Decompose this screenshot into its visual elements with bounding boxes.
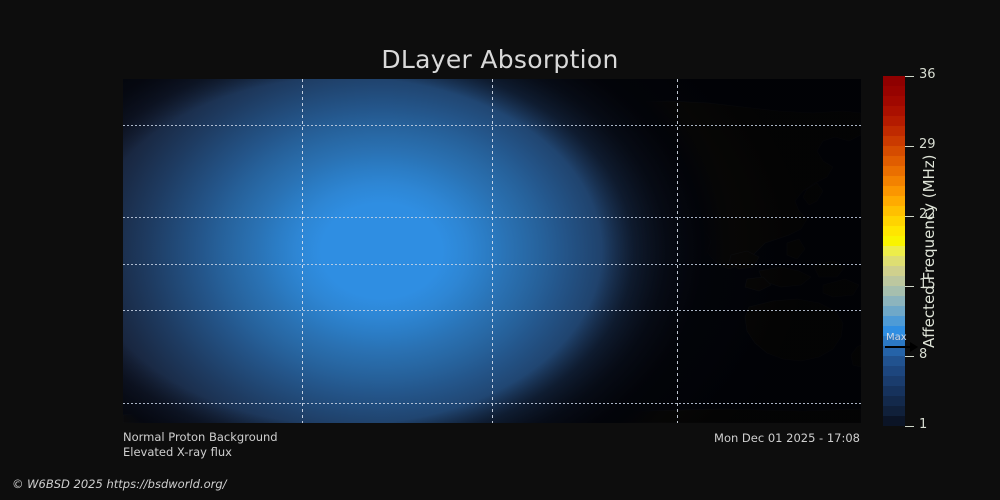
colorbar-band [883, 226, 905, 236]
colorbar-band [883, 316, 905, 326]
colorbar-axis-label: Affected Frequency (MHz) [915, 76, 943, 426]
colorbar-band [883, 286, 905, 296]
colorbar-band [883, 106, 905, 116]
colorbar-band [883, 416, 905, 426]
colorbar-band [883, 266, 905, 276]
timestamp: Mon Dec 01 2025 - 17:08 [714, 431, 860, 445]
colorbar-band [883, 326, 905, 336]
gridline-lon-120w [302, 79, 303, 423]
colorbar-band [883, 396, 905, 406]
colorbar-tick-mark [905, 426, 914, 427]
colorbar-band [883, 76, 905, 86]
proton-background-note: Normal Proton Background [123, 430, 278, 444]
colorbar-band [883, 236, 905, 246]
colorbar-band [883, 116, 905, 126]
colorbar-tick-mark [905, 216, 914, 217]
copyright-notice: © W6BSD 2025 https://bsdworld.org/ [12, 477, 227, 491]
colorbar-band [883, 276, 905, 286]
colorbar-band [883, 296, 905, 306]
colorbar-band [883, 96, 905, 106]
colorbar-tick-mark [905, 76, 914, 77]
colorbar-band [883, 306, 905, 316]
colorbar-band [883, 216, 905, 226]
colorbar-band [883, 166, 905, 176]
gridline-lon-60w [492, 79, 493, 423]
xray-flux-note: Elevated X-ray flux [123, 445, 232, 459]
colorbar-band [883, 146, 905, 156]
colorbar-band [883, 246, 905, 256]
colorbar-band [883, 346, 905, 356]
colorbar-gradient [883, 76, 905, 426]
colorbar-tick-mark [905, 356, 914, 357]
gridline-lon-0 [677, 79, 678, 423]
colorbar-band [883, 126, 905, 136]
colorbar-band [883, 366, 905, 376]
colorbar-band [883, 336, 905, 346]
colorbar-band [883, 156, 905, 166]
colorbar-band [883, 406, 905, 416]
colorbar-band [883, 376, 905, 386]
colorbar-band [883, 206, 905, 216]
colorbar-band [883, 176, 905, 186]
colorbar[interactable] [883, 76, 905, 426]
world-map-panel[interactable] [123, 79, 861, 423]
colorbar-band [883, 196, 905, 206]
colorbar-band [883, 186, 905, 196]
page-title: DLayer Absorption [0, 45, 1000, 74]
colorbar-band [883, 356, 905, 366]
colorbar-band [883, 86, 905, 96]
colorbar-tick-mark [905, 146, 914, 147]
colorbar-band [883, 256, 905, 266]
dlayer-absorption-screen: DLayer Absorption [0, 0, 1000, 500]
colorbar-tick-mark [905, 286, 914, 287]
colorbar-band [883, 136, 905, 146]
colorbar-band [883, 386, 905, 396]
